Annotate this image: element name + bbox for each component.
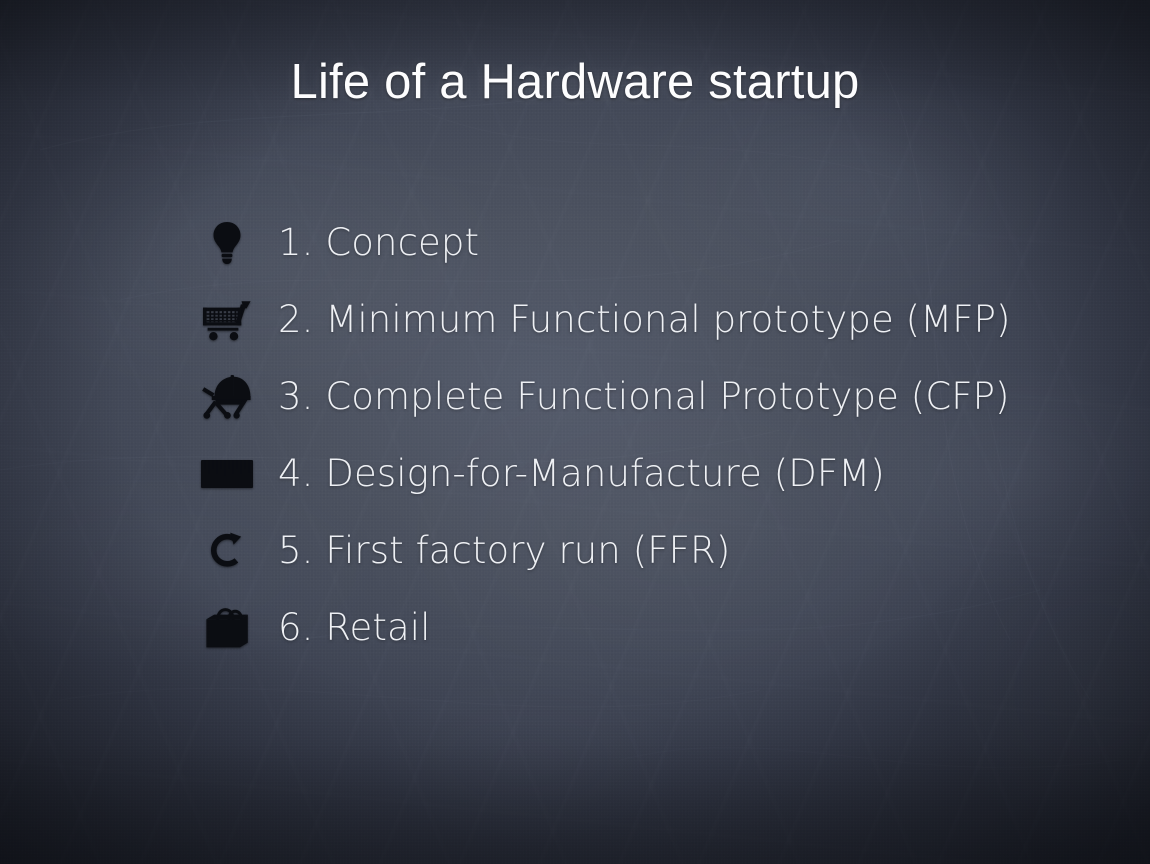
list-item-label: 3. Complete Functional Prototype (CFP) xyxy=(278,378,1010,415)
list-item[interactable]: 6. Retail xyxy=(196,589,1110,666)
list-item-label: 4. Design-for-Manufacture (DFM) xyxy=(278,455,885,492)
list-item[interactable]: 4. Design-for-Manufacture (DFM) xyxy=(196,435,1110,512)
baby-stroller-icon xyxy=(196,368,258,426)
list-item[interactable]: 2. Minimum Functional prototype (MFP) xyxy=(196,281,1110,358)
list-item-label: 6. Retail xyxy=(278,609,431,646)
shopping-cart-icon xyxy=(196,291,258,349)
list-item-label: 2. Minimum Functional prototype (MFP) xyxy=(278,301,1011,338)
page-title: Life of a Hardware startup xyxy=(0,54,1150,110)
list-item[interactable]: 5. First factory run (FFR) xyxy=(196,512,1110,589)
shopping-bag-icon xyxy=(196,599,258,657)
ruler-icon xyxy=(196,445,258,503)
lightbulb-icon xyxy=(196,214,258,272)
list-item[interactable]: 1. Concept xyxy=(196,204,1110,281)
rotate-arrow-icon xyxy=(196,522,258,580)
list-item-label: 5. First factory run (FFR) xyxy=(278,532,730,569)
list-item-label: 1. Concept xyxy=(278,224,479,261)
stage-list: 1. Concept xyxy=(196,204,1110,666)
presentation-slide: Life of a Hardware startup 1. Concept xyxy=(0,0,1150,864)
list-item[interactable]: 3. Complete Functional Prototype (CFP) xyxy=(196,358,1110,435)
